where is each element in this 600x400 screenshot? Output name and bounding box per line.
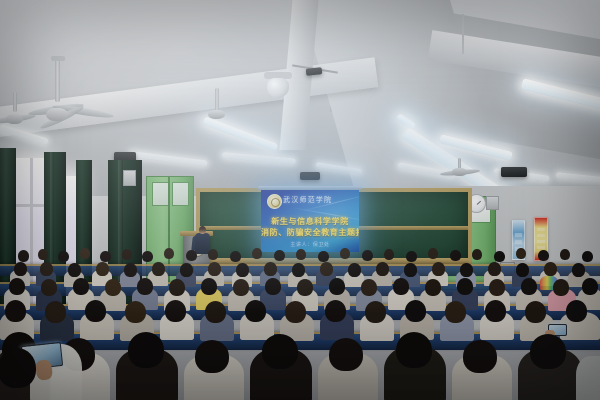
- audience-head: [472, 249, 482, 260]
- audience-head: [68, 263, 81, 277]
- audience-head: [73, 278, 89, 295]
- university-emblem-icon: [267, 194, 282, 209]
- audience-head: [516, 248, 526, 259]
- audience-head-front: [463, 340, 497, 373]
- slide-title-line-1: 新生与信息科学学院: [261, 216, 359, 227]
- audience-head: [376, 262, 389, 276]
- audience-head: [406, 251, 417, 262]
- audience-head: [457, 278, 473, 295]
- fan-mount: [51, 56, 65, 61]
- audience-head: [460, 263, 473, 277]
- audience-head: [264, 262, 277, 276]
- audience-head: [450, 250, 461, 261]
- audience-head-front: [262, 334, 298, 369]
- audience-head: [100, 251, 111, 262]
- slide-organization-text: 武汉师范学院: [283, 195, 332, 205]
- audience-head: [560, 249, 570, 260]
- audience-head: [393, 278, 409, 295]
- audience-head: [404, 263, 417, 277]
- light-stem: [462, 14, 464, 54]
- fan-rod: [13, 92, 17, 112]
- audience-head: [572, 263, 585, 277]
- audience-head: [245, 300, 266, 322]
- audience-head-front: [396, 332, 432, 368]
- lecture-hall-photo: 武汉师范学院 新生与信息科学学院 消防、防骗安全教育主题报告 主讲人：保卫处: [0, 0, 600, 400]
- audience-head: [525, 301, 546, 323]
- audience-head: [432, 262, 445, 276]
- audience-head: [5, 300, 26, 322]
- audience-head: [296, 249, 306, 260]
- slide-footer-text: 主讲人：保卫处: [261, 241, 359, 248]
- audience-head: [38, 249, 48, 260]
- audience-head: [329, 278, 345, 295]
- audience-head: [538, 250, 549, 261]
- audience-head-front: [195, 340, 229, 373]
- audience-head: [142, 251, 153, 262]
- audience-head: [445, 301, 466, 323]
- wall-speaker-center: [300, 172, 320, 180]
- audience-head: [297, 279, 313, 296]
- audience-head: [236, 263, 249, 277]
- audience-head: [340, 248, 350, 259]
- audience-head: [252, 248, 262, 259]
- audience-head: [186, 250, 197, 261]
- audience-head: [544, 262, 557, 276]
- audience-head: [208, 249, 218, 260]
- audience-head-front: [329, 338, 363, 371]
- audience-head: [40, 262, 53, 276]
- audience-head: [553, 279, 569, 296]
- fan-rod: [215, 88, 219, 112]
- audience-head: [105, 279, 121, 296]
- audience-head: [485, 300, 506, 322]
- audience-head: [521, 278, 537, 295]
- audience-head: [164, 248, 174, 259]
- audience-head: [405, 300, 426, 322]
- audience-head: [348, 263, 361, 277]
- audience-head: [361, 279, 377, 296]
- audience-head: [9, 278, 25, 295]
- audience-head: [233, 279, 249, 296]
- audience-head: [274, 250, 285, 261]
- ceiling-fan-2: [6, 114, 23, 124]
- door-left-glass-2: [172, 182, 189, 206]
- audience-head: [516, 263, 529, 277]
- audience-head-front: [530, 334, 566, 369]
- audience-head: [488, 262, 501, 276]
- audience-head: [152, 262, 165, 276]
- audience-head: [137, 278, 153, 295]
- audience-head: [180, 263, 193, 277]
- audience-head: [494, 251, 505, 262]
- student-audience: [0, 248, 600, 400]
- ceiling-fan-4: [452, 168, 467, 176]
- audience-head: [14, 262, 27, 276]
- audience-head: [125, 301, 146, 323]
- audience-head: [122, 249, 132, 260]
- audience-head: [325, 300, 346, 322]
- audience-head: [428, 248, 438, 259]
- audience-head: [582, 251, 593, 262]
- audience-head: [292, 263, 305, 277]
- audience-head: [45, 301, 66, 323]
- audience-head: [96, 262, 109, 276]
- audience-head-filming: [0, 348, 36, 388]
- audience-head: [320, 262, 333, 276]
- audience-head: [365, 301, 386, 323]
- projection-screen: 武汉师范学院 新生与信息科学学院 消防、防骗安全教育主题报告 主讲人：保卫处: [261, 190, 359, 252]
- audience-head: [208, 262, 221, 276]
- audience-head: [18, 250, 29, 262]
- audience-head: [566, 300, 587, 322]
- presenter-head: [199, 226, 206, 234]
- audience-head: [41, 279, 57, 296]
- audience-head: [230, 251, 241, 262]
- audience-head: [124, 263, 137, 277]
- audience-head: [425, 279, 441, 296]
- audience-head: [285, 301, 306, 323]
- audience-body-front: [576, 356, 600, 400]
- audience-head: [165, 300, 186, 322]
- audience-head: [265, 278, 281, 295]
- audience-head: [201, 278, 217, 295]
- wall-mounted-box-left: [123, 170, 136, 186]
- audience-head: [205, 301, 226, 323]
- audience-head: [80, 248, 90, 259]
- audience-head: [582, 278, 598, 295]
- audience-head: [58, 251, 69, 262]
- wall-speaker-right: [501, 167, 527, 177]
- audience-head: [489, 279, 505, 296]
- audience-head: [85, 300, 106, 322]
- audience-head: [384, 249, 394, 260]
- ceiling-fan-3: [208, 110, 225, 119]
- audience-head: [318, 251, 329, 262]
- audience-head-front: [128, 332, 164, 368]
- wall-mounted-box-right: [486, 196, 499, 210]
- audience-head: [169, 279, 185, 296]
- slide-title-line-2: 消防、防骗安全教育主题报告: [261, 227, 359, 238]
- ceiling-fan-1: [46, 108, 68, 121]
- fan-rod: [55, 58, 60, 102]
- audience-head: [362, 250, 373, 261]
